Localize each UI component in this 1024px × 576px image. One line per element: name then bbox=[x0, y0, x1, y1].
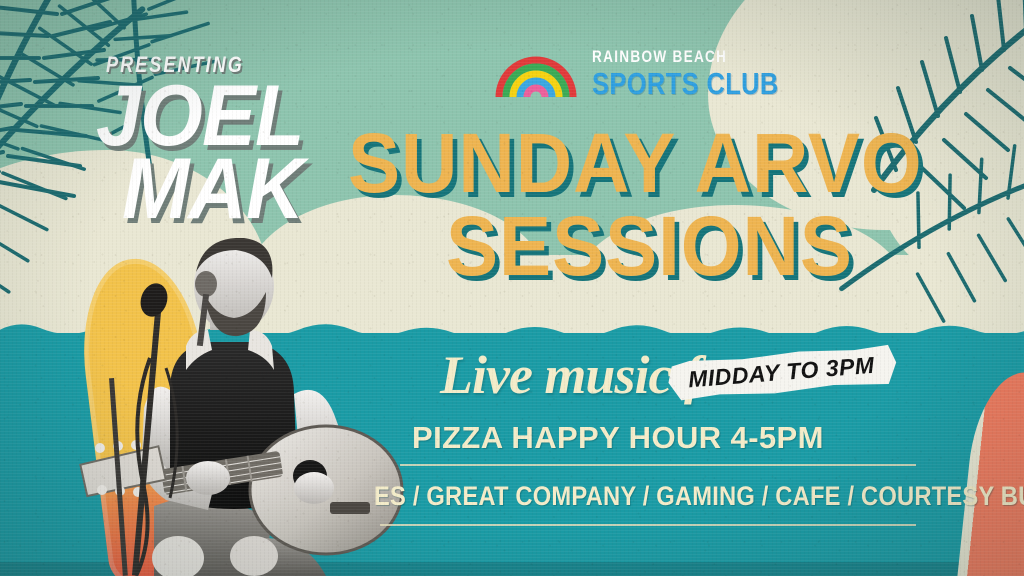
logo-line-rainbow-beach: RAINBOW BEACH bbox=[592, 48, 774, 65]
headline-block: SUNDAY ARVO SESSIONS bbox=[348, 122, 966, 288]
performer-photo bbox=[58, 238, 428, 576]
artist-block: PRESENTING JOEL MAK bbox=[96, 52, 346, 226]
pizza-happy-hour-text: PIZZA HAPPY HOUR 4-5PM bbox=[412, 420, 824, 456]
rainbow-icon bbox=[494, 51, 578, 97]
amenities-text: ES / GREAT COMPANY / GAMING / CAFE / COU… bbox=[374, 481, 1024, 512]
artist-name-line2: MAK bbox=[122, 153, 333, 226]
club-logo: RAINBOW BEACH SPORTS CLUB bbox=[494, 48, 820, 99]
divider-line-top bbox=[400, 464, 916, 466]
promo-poster: PRESENTING JOEL MAK RAINBOW BEACH SPORTS… bbox=[0, 0, 1024, 576]
logo-line-sports-club: SPORTS CLUB bbox=[592, 68, 779, 99]
live-music-script: Live music f bbox=[440, 344, 701, 406]
headline-line2: SESSIONS bbox=[446, 205, 929, 288]
divider-line-bottom bbox=[380, 524, 916, 526]
headline-line1: SUNDAY ARVO bbox=[348, 122, 923, 205]
